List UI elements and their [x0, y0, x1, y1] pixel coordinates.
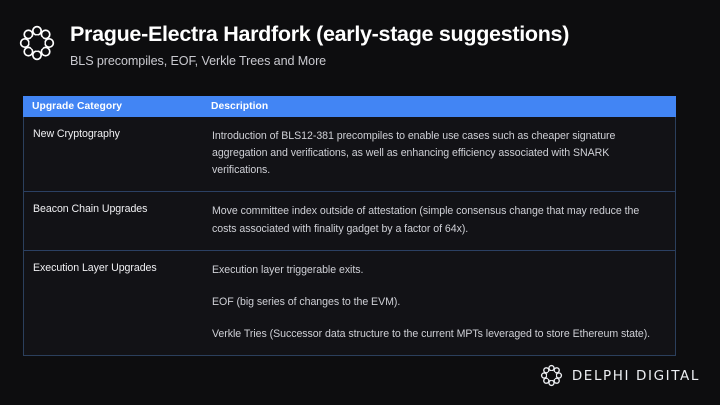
cell-description: Introduction of BLS12-381 precompiles to… — [211, 117, 675, 191]
table-row: Beacon Chain Upgrades Move committee ind… — [24, 192, 675, 250]
slide-root: Prague-Electra Hardfork (early-stage sug… — [0, 0, 720, 405]
description-paragraph: Move committee index outside of attestat… — [212, 203, 657, 237]
column-header-description: Description — [210, 101, 676, 112]
footer-branding: DELPHI DIGITAL — [540, 364, 700, 387]
description-paragraph: Execution layer triggerable exits. — [212, 262, 657, 279]
delphi-ring-icon — [18, 24, 56, 62]
slide-header: Prague-Electra Hardfork (early-stage sug… — [18, 22, 569, 68]
table-row: Execution Layer Upgrades Execution layer… — [24, 251, 675, 355]
delphi-ring-icon — [540, 364, 563, 387]
header-text-group: Prague-Electra Hardfork (early-stage sug… — [70, 22, 569, 68]
description-paragraph: EOF (big series of changes to the EVM). — [212, 294, 657, 311]
column-header-upgrade-category: Upgrade Category — [23, 101, 210, 112]
upgrades-table: Upgrade Category Description New Cryptog… — [23, 96, 676, 356]
page-subtitle: BLS precompiles, EOF, Verkle Trees and M… — [70, 54, 569, 68]
cell-description: Execution layer triggerable exits. EOF (… — [211, 251, 675, 355]
cell-description: Move committee index outside of attestat… — [211, 192, 675, 249]
table-header-row: Upgrade Category Description — [23, 96, 676, 117]
cell-upgrade-category: Beacon Chain Upgrades — [24, 192, 211, 249]
description-paragraph: Introduction of BLS12-381 precompiles to… — [212, 128, 657, 179]
cell-upgrade-category: New Cryptography — [24, 117, 211, 191]
page-title: Prague-Electra Hardfork (early-stage sug… — [70, 22, 569, 47]
table-row: New Cryptography Introduction of BLS12-3… — [24, 117, 675, 192]
table-body: New Cryptography Introduction of BLS12-3… — [23, 117, 676, 356]
delphi-digital-wordmark: DELPHI DIGITAL — [572, 368, 700, 384]
cell-upgrade-category: Execution Layer Upgrades — [24, 251, 211, 355]
description-paragraph: Verkle Tries (Successor data structure t… — [212, 326, 657, 343]
